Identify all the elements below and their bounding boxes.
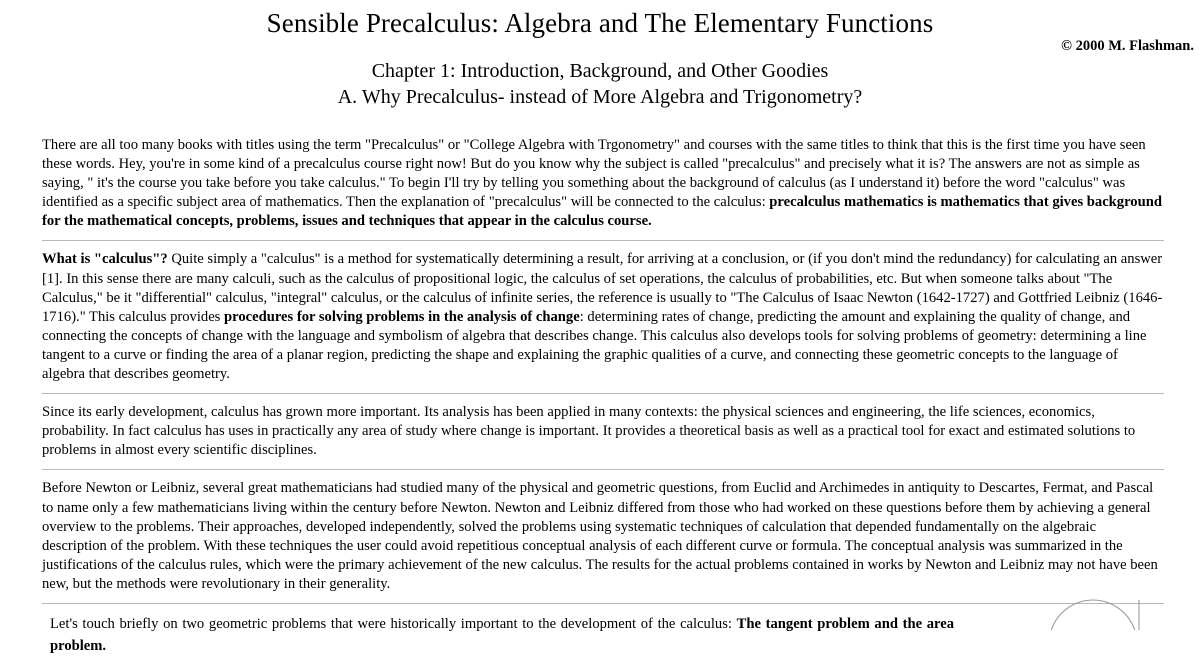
document-page: Sensible Precalculus: Algebra and The El… bbox=[0, 0, 1200, 630]
paragraph-history: Before Newton or Leibniz, several great … bbox=[42, 479, 1164, 594]
paragraph-closing: Let's touch briefly on two geometric pro… bbox=[50, 613, 954, 657]
copyright-notice: © 2000 M. Flashman. bbox=[1061, 38, 1194, 55]
section-divider bbox=[42, 469, 1164, 470]
paragraph-applications-text: Since its early development, calculus ha… bbox=[42, 404, 1135, 458]
paragraph-applications: Since its early development, calculus ha… bbox=[42, 403, 1164, 460]
paragraph-history-text: Before Newton or Leibniz, several great … bbox=[42, 480, 1158, 591]
paragraph-intro: There are all too many books with titles… bbox=[42, 136, 1164, 231]
section-divider bbox=[42, 240, 1164, 241]
page-title: Sensible Precalculus: Algebra and The El… bbox=[0, 6, 1200, 40]
paragraph-what-is-calculus: What is "calculus"? Quite simply a "calc… bbox=[42, 250, 1164, 384]
paragraph-what-is-calculus-lead: What is "calculus"? bbox=[42, 251, 168, 267]
section-divider bbox=[42, 603, 1164, 604]
section-divider bbox=[42, 393, 1164, 394]
chapter-heading: Chapter 1: Introduction, Background, and… bbox=[0, 40, 1200, 84]
document-header: Sensible Precalculus: Algebra and The El… bbox=[0, 0, 1200, 110]
paragraph-what-is-calculus-bold: procedures for solving problems in the a… bbox=[224, 309, 580, 325]
closing-section: Let's touch briefly on two geometric pro… bbox=[42, 613, 1164, 657]
section-heading: A. Why Precalculus- instead of More Alge… bbox=[0, 84, 1200, 110]
document-body: There are all too many books with titles… bbox=[0, 136, 1200, 657]
